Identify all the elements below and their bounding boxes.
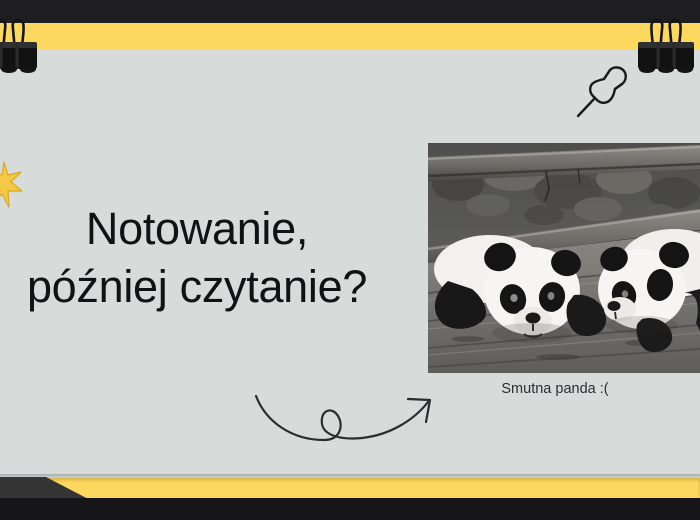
title-line-2: później czytanie? [0, 258, 422, 316]
page-title: Notowanie, później czytanie? [0, 200, 422, 315]
title-line-1: Notowanie, [0, 200, 422, 258]
slide-top-yellow-band [0, 23, 700, 50]
panda-photo [428, 143, 700, 373]
slide-top-dark-border [0, 0, 700, 23]
push-pin-icon [570, 62, 632, 124]
slide-bottom-dark-border [0, 498, 700, 520]
photo-caption: Smutna panda :( [430, 381, 680, 397]
presentation-slide: Notowanie, później czytanie? [0, 0, 700, 520]
slide-bottom-yellow-band [0, 478, 700, 500]
binder-clip-left-icon [0, 12, 38, 74]
binder-clip-right-icon [637, 12, 695, 74]
curved-arrow-icon [244, 382, 454, 448]
